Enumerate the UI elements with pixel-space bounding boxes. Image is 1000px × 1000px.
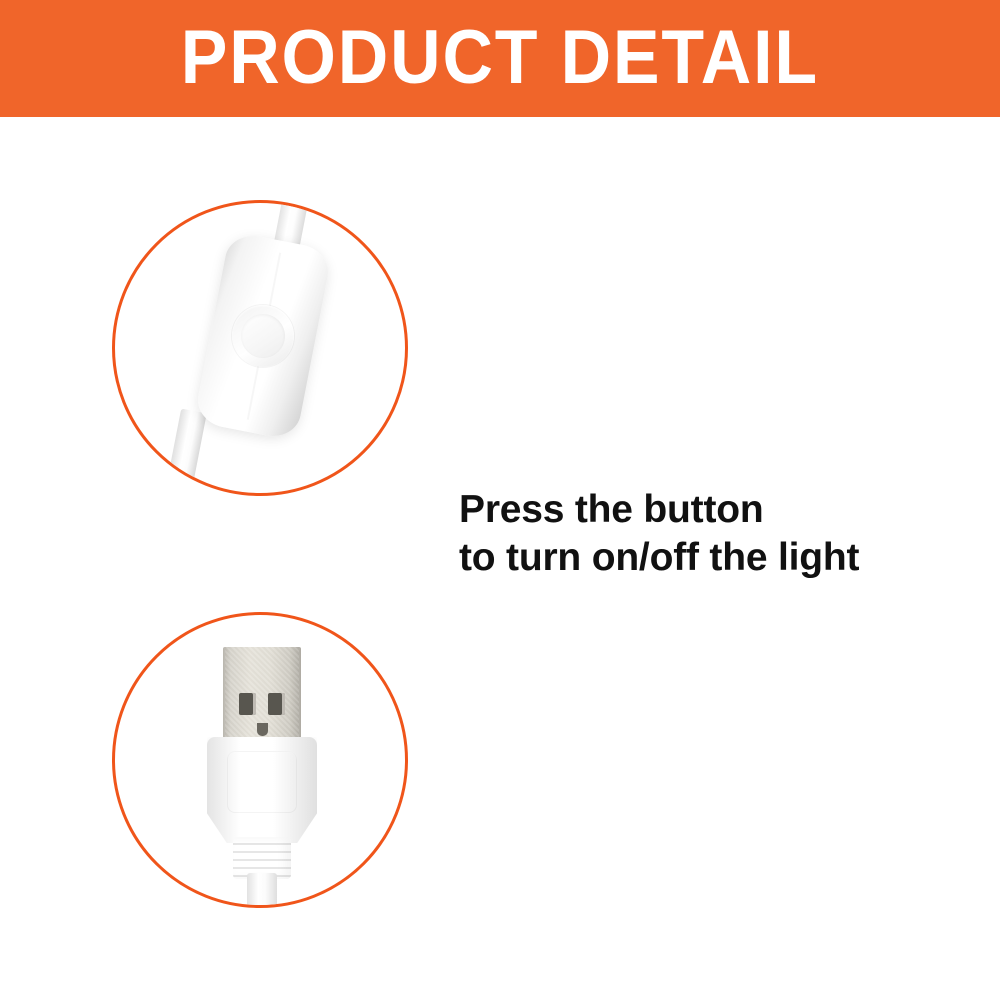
usb-center-notch [257,723,268,736]
usb-metal-shell-icon [223,647,301,743]
header-banner: PRODUCT DETAIL [0,0,1000,117]
usb-photo-circle [112,612,408,908]
usb-cable [247,873,277,908]
usb-plastic-housing [207,737,317,843]
description-line: to turn on/off the light [459,534,859,582]
product-detail-page: PRODUCT DETAIL BUTTON DIMMER 1 COLOR Pre… [0,0,1000,1000]
power-button-inner-ring [237,310,289,362]
button-dimmer-photo-circle [112,200,408,496]
usb-contact-slot-right [268,693,285,715]
button-dimmer-switch-photo [115,203,405,493]
cable-lower-segment [160,409,207,496]
page-title: PRODUCT DETAIL [181,20,819,96]
description-line: Press the button [459,486,859,534]
power-button-icon [227,300,300,373]
usb-connector-photo [115,615,405,905]
usb-housing-emboss [227,751,297,813]
button-dimmer-description: Press the button to turn on/off the ligh… [459,486,859,582]
inline-switch-body [193,231,332,441]
usb-contact-slot-left [239,693,256,715]
